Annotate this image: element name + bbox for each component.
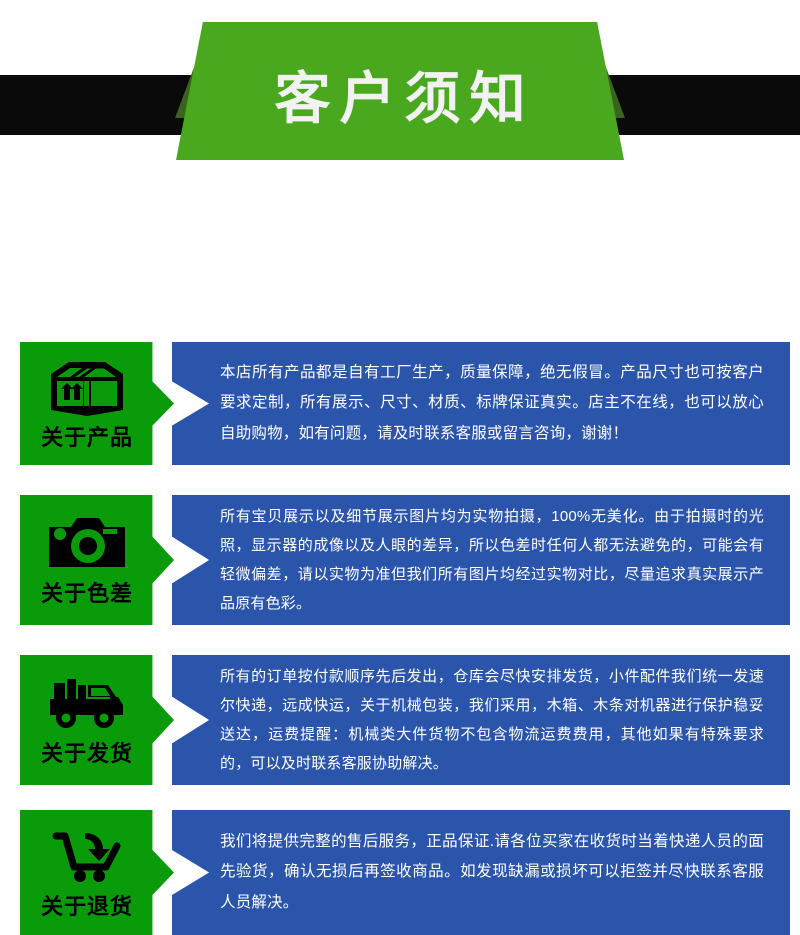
return-cart-icon [26,825,148,887]
section-panel-shipping: 所有的订单按付款顺序先后发出，仓库会尽快安排发货，小件配件我们统一发速尔快递，远… [172,655,790,785]
notice-row: 关于色差 所有宝贝展示以及细节展示图片均为实物拍摄，100%无美化。由于拍摄时的… [0,495,800,625]
section-text: 所有宝贝展示以及细节展示图片均为实物拍摄，100%无美化。由于拍摄时的光照，显示… [172,502,790,619]
notice-row: 关于退货 我们将提供完整的售后服务，正品保证.请各位买家在收货时当着快递人员的面… [0,810,800,935]
notice-row: 关于产品 本店所有产品都是自有工厂生产，质量保障，绝无假冒。产品尺寸也可按客户要… [0,342,800,465]
package-box-icon [26,356,148,418]
section-text: 我们将提供完整的售后服务，正品保证.请各位买家在收货时当着快递人员的面先验货，确… [172,827,790,918]
page-header: 客户须知 [0,0,800,160]
section-panel-color: 所有宝贝展示以及细节展示图片均为实物拍摄，100%无美化。由于拍摄时的光照，显示… [172,495,790,625]
section-badge-returns[interactable]: 关于退货 [20,810,174,935]
section-panel-products: 本店所有产品都是自有工厂生产，质量保障，绝无假冒。产品尺寸也可按客户要求定制，所… [172,342,790,465]
delivery-truck-icon [26,672,148,734]
section-label: 关于产品 [26,420,148,452]
page-title: 客户须知 [266,55,535,127]
section-label: 关于退货 [26,889,148,921]
section-badge-shipping[interactable]: 关于发货 [20,655,174,785]
ribbon-banner: 客户须知 [176,22,624,160]
section-badge-color[interactable]: 关于色差 [20,495,174,625]
section-label: 关于发货 [26,736,148,768]
section-badge-products[interactable]: 关于产品 [20,342,174,465]
notice-row: 关于发货 所有的订单按付款顺序先后发出，仓库会尽快安排发货，小件配件我们统一发速… [0,655,800,785]
section-text: 所有的订单按付款顺序先后发出，仓库会尽快安排发货，小件配件我们统一发速尔快递，远… [172,662,790,779]
camera-icon [26,512,148,574]
section-panel-returns: 我们将提供完整的售后服务，正品保证.请各位买家在收货时当着快递人员的面先验货，确… [172,810,790,935]
section-text: 本店所有产品都是自有工厂生产，质量保障，绝无假冒。产品尺寸也可按客户要求定制，所… [172,358,790,449]
section-label: 关于色差 [26,576,148,608]
